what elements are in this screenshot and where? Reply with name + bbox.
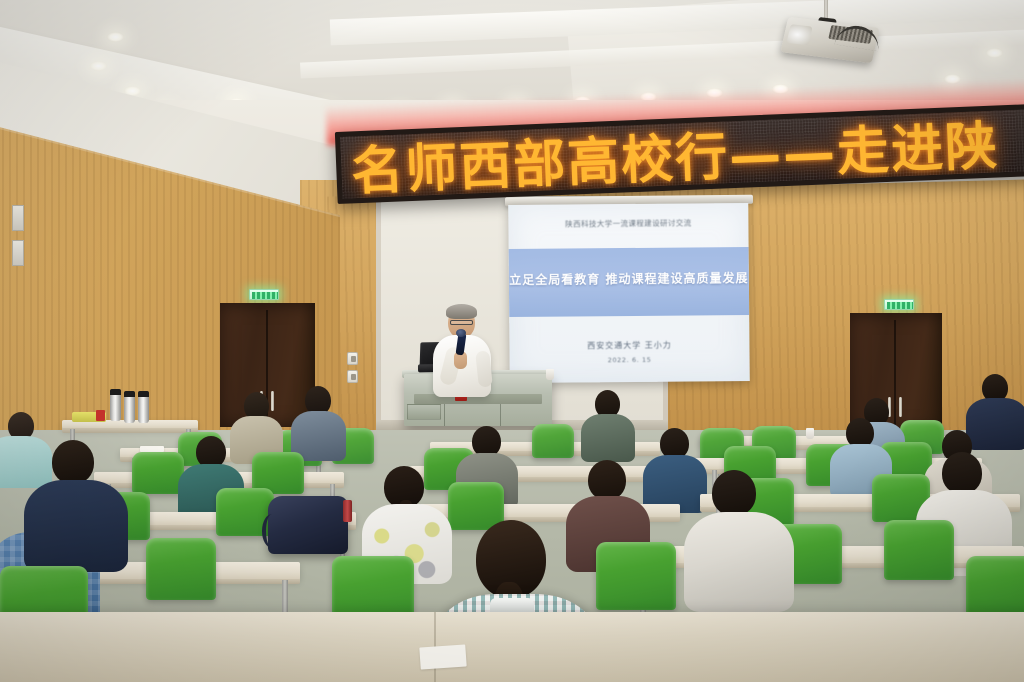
torso [966, 398, 1024, 450]
wall-panel-box-left [12, 205, 24, 231]
torso [24, 480, 128, 572]
table-edge [62, 428, 198, 433]
chair-foreground-right[interactable] [596, 542, 676, 610]
red-box-on-tray [96, 410, 105, 421]
exit-sign-right-glyph [887, 302, 913, 309]
thermos-flask [124, 396, 135, 423]
lecture-hall-photo: 名师西部高校行——走进陕 陕西科技大学一流课程建设研讨交流 立足全局看教育 推动… [0, 0, 1024, 682]
wall-panel-box-left-2 [12, 240, 24, 266]
slide-title-text: 立足全局看教育 推动课程建设高质量发展 [509, 269, 749, 288]
torso [684, 512, 794, 612]
ceiling-downlight [90, 61, 107, 71]
light-switch-upper[interactable] [347, 352, 358, 365]
tumbler [343, 500, 352, 522]
chair[interactable] [146, 538, 216, 600]
slide-presenter-text: 西安交通大学 王小力 [509, 339, 749, 352]
chair[interactable] [884, 520, 954, 580]
slide-date-text: 2022. 6. 15 [510, 355, 750, 365]
exit-sign-left: 安全出口 [249, 289, 279, 300]
paper-foreground [419, 644, 466, 669]
thermos-flask [110, 394, 121, 421]
chair[interactable] [532, 424, 574, 458]
microphone-head [456, 329, 466, 337]
podium-seam [500, 404, 501, 426]
door-left-handle-b[interactable] [271, 391, 274, 411]
door-right-seam [894, 320, 896, 426]
projection-screen: 陕西科技大学一流课程建设研讨交流 立足全局看教育 推动课程建设高质量发展 西安交… [508, 203, 750, 383]
cup-on-table [806, 428, 814, 439]
chair-foreground-far-right[interactable] [966, 556, 1024, 618]
exit-sign-right: 安全出口 [884, 299, 914, 310]
foreground-table [0, 612, 1024, 682]
water-cup-on-shelf [546, 369, 554, 380]
head [942, 452, 982, 494]
torso [581, 414, 635, 462]
ceiling-downlight [986, 48, 1003, 58]
podium-shelf [407, 404, 441, 420]
head [588, 460, 626, 500]
head [712, 470, 756, 516]
podium-seam [444, 404, 445, 426]
alcove-edge-left [376, 196, 381, 426]
chair[interactable] [132, 452, 184, 494]
speaker-hair [446, 304, 477, 319]
door-right-handle-b[interactable] [899, 397, 902, 417]
exit-sign-left-glyph [252, 292, 278, 299]
light-switch-lower[interactable] [347, 370, 358, 383]
ceiling-downlight [107, 32, 124, 42]
thermos-flask [138, 396, 149, 423]
slide-header-text: 陕西科技大学一流课程建设研讨交流 [508, 217, 748, 230]
backpack [268, 496, 348, 554]
speaker-glasses [450, 320, 473, 325]
head [52, 440, 94, 484]
torso [0, 436, 52, 488]
